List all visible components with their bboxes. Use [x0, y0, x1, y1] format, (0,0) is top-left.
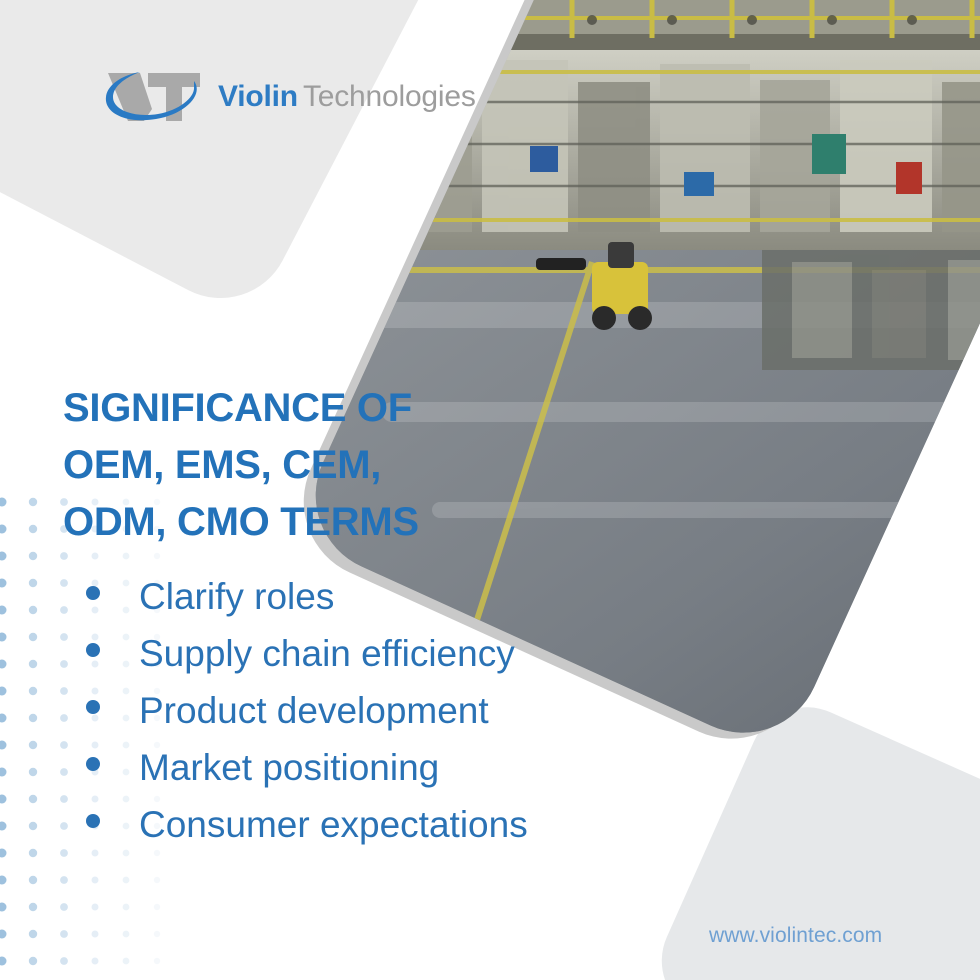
brand-name-primary: Violin — [218, 80, 298, 113]
list-item-label: Supply chain efficiency — [139, 635, 515, 672]
vt-monogram-icon — [100, 61, 212, 133]
bullet-dot-icon — [86, 757, 100, 771]
list-item-label: Clarify roles — [139, 578, 334, 615]
bullet-dot-icon — [86, 643, 100, 657]
page-title: SIGNIFICANCE OF OEM, EMS, CEM, ODM, CMO … — [63, 380, 533, 552]
list-item: Product development — [86, 692, 726, 749]
list-item: Consumer expectations — [86, 806, 726, 863]
bullet-dot-icon — [86, 700, 100, 714]
brand-wordmark: ViolinTechnologies — [218, 82, 476, 112]
brand-logo[interactable]: ViolinTechnologies — [100, 58, 500, 136]
list-item-label: Product development — [139, 692, 489, 729]
bullet-dot-icon — [86, 814, 100, 828]
headline-line-3: ODM, CMO TERMS — [63, 494, 533, 551]
list-item: Clarify roles — [86, 578, 726, 635]
benefit-list: Clarify roles Supply chain efficiency Pr… — [86, 578, 726, 863]
poster-canvas: ViolinTechnologies SIGNIFICANCE OF OEM, … — [0, 0, 980, 980]
list-item: Market positioning — [86, 749, 726, 806]
list-item: Supply chain efficiency — [86, 635, 726, 692]
list-item-label: Market positioning — [139, 749, 439, 786]
list-item-label: Consumer expectations — [139, 806, 528, 843]
bullet-dot-icon — [86, 586, 100, 600]
website-url[interactable]: www.violintec.com — [709, 924, 882, 948]
headline-line-2: OEM, EMS, CEM, — [63, 437, 533, 494]
headline-line-1: SIGNIFICANCE OF — [63, 380, 533, 437]
brand-name-secondary: Technologies — [303, 80, 476, 113]
